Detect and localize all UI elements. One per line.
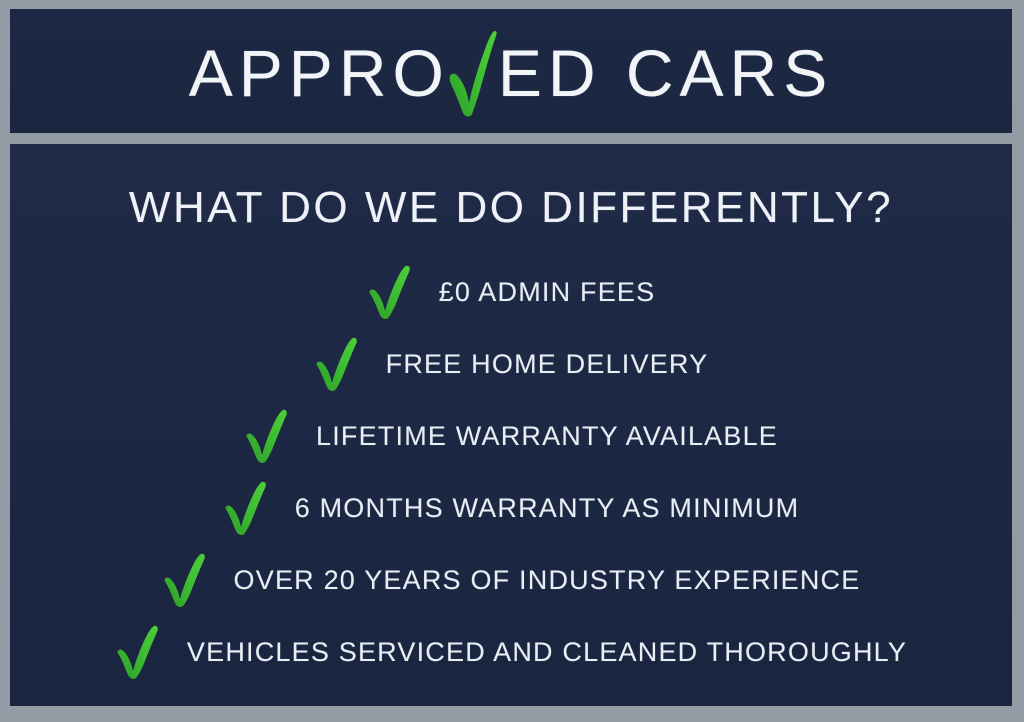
list-item: £0 ADMIN FEES <box>367 256 656 328</box>
list-item-label: FREE HOME DELIVERY <box>386 351 709 378</box>
header-panel: APPRO ED CARS <box>10 9 1012 133</box>
list-item: OVER 20 YEARS OF INDUSTRY EXPERIENCE <box>162 544 861 616</box>
list-item-label: LIFETIME WARRANTY AVAILABLE <box>316 423 778 450</box>
green-checkmark-icon <box>223 482 269 534</box>
green-checkmark-icon <box>314 338 360 390</box>
brand-logo: APPRO ED CARS <box>189 30 833 116</box>
advertisement-banner: APPRO ED CARS WHAT DO WE DO D <box>0 0 1024 722</box>
list-item: VEHICLES SERVICED AND CLEANED THOROUGHLY <box>115 616 907 688</box>
green-checkmark-icon <box>162 554 208 606</box>
logo-text-first: APPRO <box>189 40 450 106</box>
green-checkmark-icon <box>446 30 500 116</box>
list-item: 6 MONTHS WARRANTY AS MINIMUM <box>223 472 800 544</box>
list-item-label: 6 MONTHS WARRANTY AS MINIMUM <box>295 495 800 522</box>
logo-text-second: ED CARS <box>498 40 833 106</box>
body-panel: WHAT DO WE DO DIFFERENTLY? <box>10 144 1012 706</box>
list-item-label: £0 ADMIN FEES <box>439 279 656 306</box>
page-title: WHAT DO WE DO DIFFERENTLY? <box>129 186 893 230</box>
panel-divider <box>10 133 1012 144</box>
list-item: FREE HOME DELIVERY <box>314 328 709 400</box>
feature-list: £0 ADMIN FEES FREE HOME DELIVERY LIFETIM… <box>10 256 1012 688</box>
green-checkmark-icon <box>367 266 413 318</box>
list-item-label: VEHICLES SERVICED AND CLEANED THOROUGHLY <box>187 639 907 666</box>
green-checkmark-icon <box>244 410 290 462</box>
list-item-label: OVER 20 YEARS OF INDUSTRY EXPERIENCE <box>234 567 861 594</box>
list-item: LIFETIME WARRANTY AVAILABLE <box>244 400 778 472</box>
green-checkmark-icon <box>115 626 161 678</box>
